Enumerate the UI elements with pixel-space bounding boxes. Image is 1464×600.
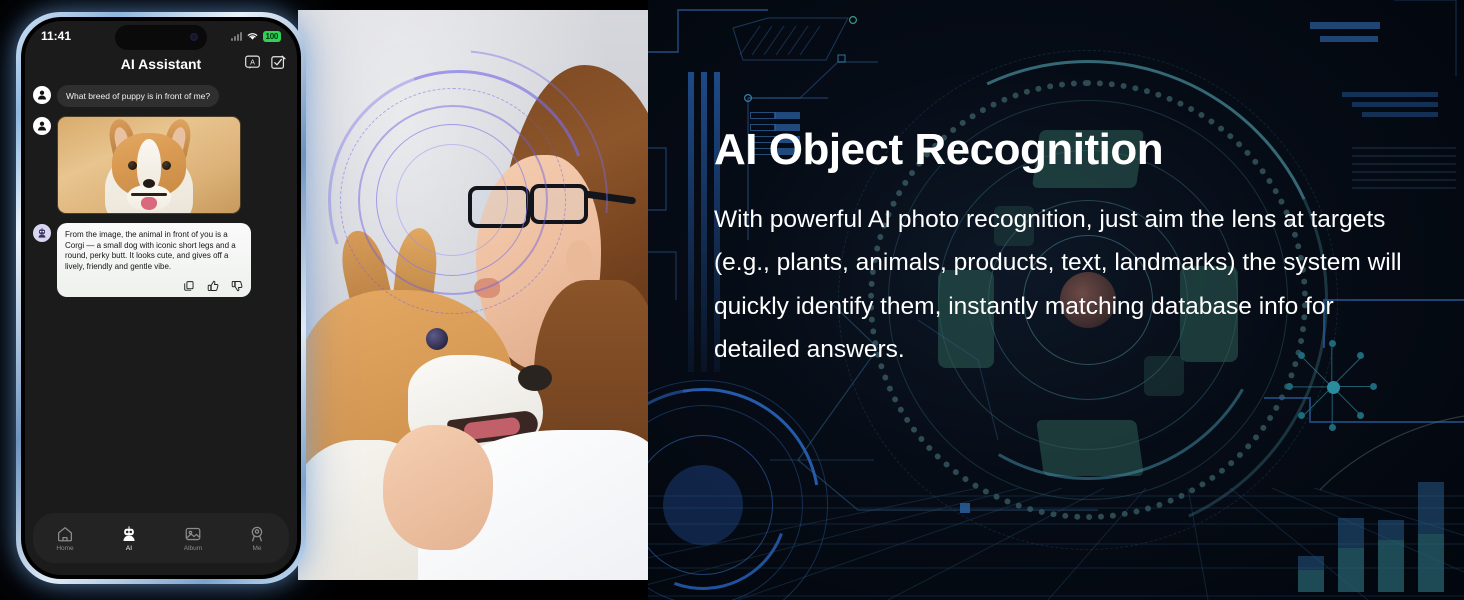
assistant-message-text: From the image, the animal in front of y…	[65, 230, 243, 272]
svg-text:A: A	[250, 58, 255, 67]
wifi-icon	[246, 31, 259, 41]
person-icon	[36, 120, 48, 132]
message-user: What breed of puppy is in front of me?	[33, 85, 287, 107]
tab-label: Album	[184, 545, 202, 552]
avatar	[33, 224, 51, 242]
message-image	[33, 116, 287, 214]
photo-woman-ear	[566, 240, 592, 278]
attached-photo[interactable]	[57, 116, 241, 214]
user-message-bubble: What breed of puppy is in front of me?	[57, 85, 219, 107]
status-indicators: 100	[231, 31, 281, 42]
tab-album[interactable]: Album	[161, 525, 225, 552]
tab-home[interactable]: Home	[33, 525, 97, 552]
avatar	[33, 86, 51, 104]
photo-eyeglasses-left	[468, 186, 530, 228]
tab-me[interactable]: Me	[225, 525, 289, 552]
avatar	[33, 117, 51, 135]
bottom-navigation: Home AI	[33, 513, 289, 563]
person-icon	[36, 89, 48, 101]
message-actions	[65, 280, 243, 292]
robot-icon	[120, 525, 138, 543]
status-bar: 11:41 100	[25, 21, 297, 51]
phone-screen: 11:41 100	[25, 21, 297, 575]
feature-body: With powerful AI photo recognition, just…	[714, 198, 1404, 371]
photo-eyeglasses-right	[530, 184, 588, 224]
dynamic-island	[115, 25, 207, 50]
tab-ai[interactable]: AI	[97, 525, 161, 552]
signal-icon	[231, 32, 242, 41]
battery-indicator: 100	[263, 31, 281, 42]
page-title: AI Assistant	[121, 56, 201, 72]
new-chat-icon[interactable]	[270, 54, 287, 71]
translate-icon[interactable]: A	[244, 54, 261, 71]
tab-label: Me	[252, 545, 261, 552]
tab-label: Home	[56, 545, 73, 552]
promo-banner: 11:41 100	[0, 0, 1464, 600]
lifestyle-photo	[298, 10, 648, 580]
thumbs-down-icon[interactable]	[231, 280, 243, 292]
phone-mockup: 11:41 100	[16, 12, 306, 584]
photo-dog-eye	[426, 328, 448, 350]
status-time: 11:41	[41, 29, 71, 43]
thumbs-up-icon[interactable]	[207, 280, 219, 292]
person-icon	[248, 525, 266, 543]
phone-bezel: 11:41 100	[21, 17, 301, 579]
photo-woman-lips	[474, 278, 500, 298]
assistant-message-bubble: From the image, the animal in front of y…	[57, 223, 251, 297]
photo-woman-hand	[383, 425, 493, 550]
home-icon	[56, 525, 74, 543]
chat-thread: What breed of puppy is in front of me?	[25, 77, 297, 297]
left-showcase: 11:41 100	[0, 0, 648, 600]
feature-headline: AI Object Recognition	[714, 128, 1404, 172]
feature-copy: AI Object Recognition With powerful AI p…	[714, 128, 1404, 371]
header-actions: A	[244, 54, 287, 71]
robot-icon	[36, 227, 48, 239]
image-icon	[184, 525, 202, 543]
app-header: AI Assistant A	[25, 51, 297, 77]
tab-label: AI	[126, 545, 132, 552]
copy-icon[interactable]	[183, 280, 195, 292]
feature-panel: AI Object Recognition With powerful AI p…	[648, 0, 1464, 600]
photo-dog-nose	[518, 365, 552, 391]
message-assistant: From the image, the animal in front of y…	[33, 223, 287, 297]
